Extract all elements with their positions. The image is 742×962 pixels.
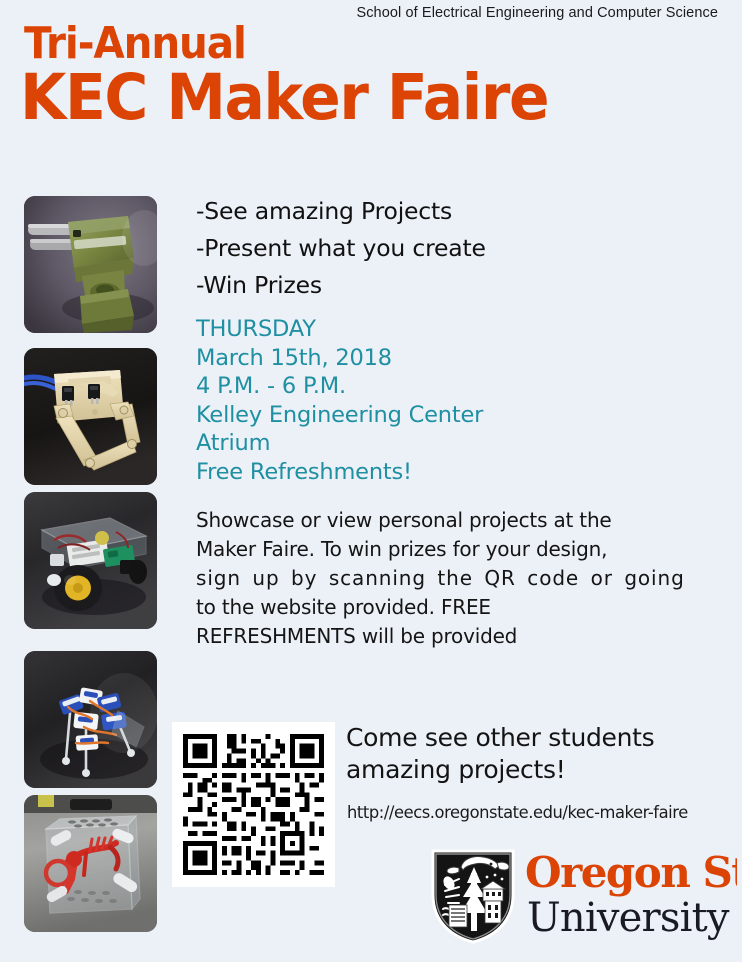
qr-code-image[interactable]: [183, 734, 324, 875]
paragraph-line: Showcase or view personal projects at th…: [196, 506, 716, 535]
paragraph-line: REFRESHMENTS will be provided: [196, 622, 716, 651]
paragraph-line: Maker Faire. To win prizes for your desi…: [196, 535, 716, 564]
cta-line-2: amazing projects!: [346, 754, 654, 786]
event-details-block: THURSDAY March 15th, 2018 4 P.M. - 6 P.M…: [196, 315, 483, 487]
event-date: March 15th, 2018: [196, 344, 483, 373]
photo-acrylic-cube-enclosure: [24, 795, 157, 932]
acrylic-cube-enclosure-illustration: [24, 795, 157, 932]
event-url[interactable]: http://eecs.oregonstate.edu/kec-maker-fa…: [347, 803, 688, 823]
photo-acrylic-robot-car: [24, 492, 157, 629]
description-paragraph: Showcase or view personal projects at th…: [196, 506, 716, 651]
bullet-item: -Win Prizes: [196, 267, 486, 304]
photo-tan-3d-printed-gripper-linkage: [24, 348, 157, 485]
paragraph-line: sign up by scanning the QR code or going: [196, 564, 716, 593]
wordmark-oregon-state: Oregon State: [525, 848, 737, 897]
call-to-action-text: Come see other students amazing projects…: [346, 722, 654, 786]
event-venue: Kelley Engineering Center: [196, 401, 483, 430]
osu-wordmark: Oregon State University: [525, 843, 737, 943]
photo-green-3d-printed-turret-mount: [24, 196, 157, 333]
event-time: 4 P.M. - 6 P.M.: [196, 372, 483, 401]
bullet-list: -See amazing Projects -Present what you …: [196, 193, 486, 304]
poster-title-line-1: Tri-Annual: [24, 22, 246, 66]
green-turret-illustration: [24, 196, 157, 333]
qr-code[interactable]: [172, 722, 335, 887]
oregon-state-university-logo: Oregon State University: [425, 843, 737, 947]
school-name-line: School of Electrical Engineering and Com…: [356, 5, 718, 21]
acrylic-robot-car-illustration: [24, 492, 157, 629]
wordmark-university: University: [527, 895, 730, 941]
bullet-item: -See amazing Projects: [196, 193, 486, 230]
photo-servo-walking-robot: [24, 651, 157, 788]
tan-gripper-illustration: [24, 348, 157, 485]
poster-title-line-2: KEC Maker Faire: [20, 66, 548, 129]
osu-shield-crest-icon: [425, 843, 521, 945]
event-venue-detail: Atrium: [196, 429, 483, 458]
bullet-item: -Present what you create: [196, 230, 486, 267]
event-day: THURSDAY: [196, 315, 483, 344]
servo-walking-robot-illustration: [24, 651, 157, 788]
cta-line-1: Come see other students: [346, 722, 654, 754]
poster-canvas: School of Electrical Engineering and Com…: [0, 0, 742, 962]
event-refreshments: Free Refreshments!: [196, 458, 483, 487]
paragraph-line: to the website provided. FREE: [196, 593, 716, 622]
